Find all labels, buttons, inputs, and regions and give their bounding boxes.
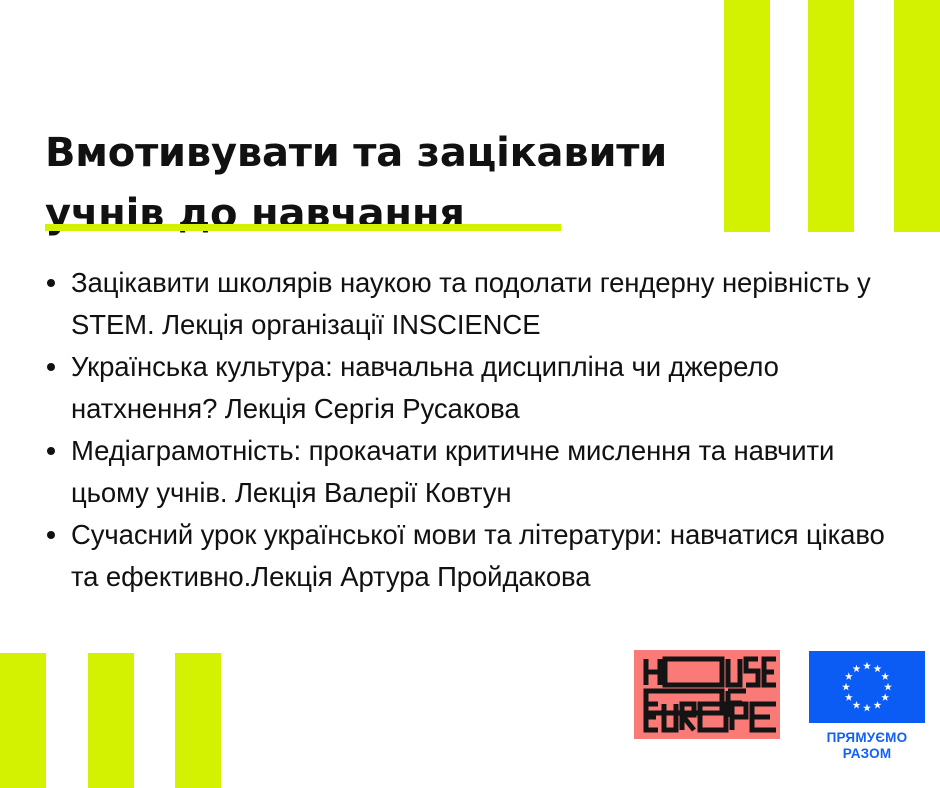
- bullet-list: Зацікавити школярів наукою та подолати г…: [45, 262, 905, 598]
- decor-bar-top-right-1: [724, 0, 770, 232]
- bullet-dot-icon: [47, 363, 55, 371]
- list-item-text: Сучасний урок української мови та літера…: [71, 519, 885, 592]
- list-item: Сучасний урок української мови та літера…: [45, 514, 905, 598]
- list-item-text: Зацікавити школярів наукою та подолати г…: [71, 267, 871, 340]
- decor-bar-bottom-left-3: [175, 653, 221, 788]
- house-of-europe-logo: [634, 650, 780, 739]
- decor-bar-top-right-2: [808, 0, 854, 232]
- title-underline-rule: [45, 224, 561, 231]
- decor-bar-bottom-left-2: [88, 653, 134, 788]
- bullet-dot-icon: [47, 279, 55, 287]
- list-item: Зацікавити школярів наукою та подолати г…: [45, 262, 905, 346]
- house-of-europe-mark-icon: [634, 650, 780, 739]
- eu-logo-caption: ПРЯМУЄМО РАЗОМ: [809, 730, 925, 762]
- slide-canvas: Вмотивувати та зацікавити учнів до навча…: [0, 0, 940, 788]
- decor-bar-top-right-3: [894, 0, 940, 232]
- eu-flag-icon: [809, 651, 925, 723]
- list-item-text: Українська культура: навчальна дисциплін…: [71, 351, 779, 424]
- bullet-dot-icon: [47, 531, 55, 539]
- bullet-dot-icon: [47, 447, 55, 455]
- list-item-text: Медіаграмотність: прокачати критичне мис…: [71, 435, 834, 508]
- list-item: Медіаграмотність: прокачати критичне мис…: [45, 430, 905, 514]
- eu-logo-block: ПРЯМУЄМО РАЗОМ: [809, 651, 925, 761]
- decor-bar-bottom-left-1: [0, 653, 46, 788]
- list-item: Українська культура: навчальна дисциплін…: [45, 346, 905, 430]
